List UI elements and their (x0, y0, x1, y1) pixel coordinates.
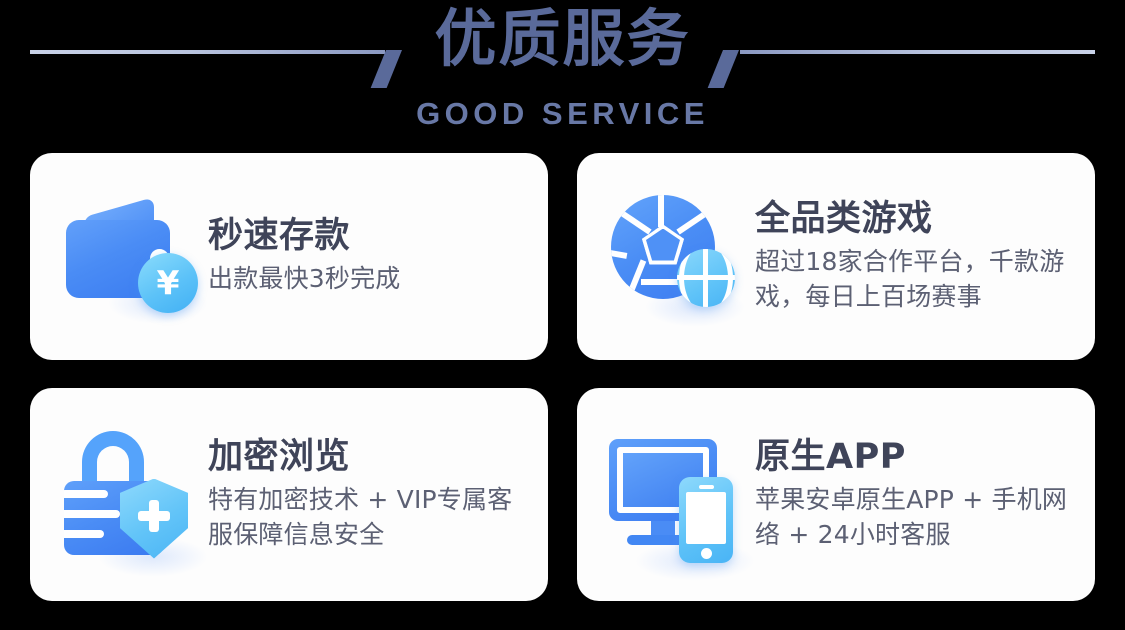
feature-card-grid: ¥ 秒速存款 出款最快3秒完成 (30, 153, 1095, 601)
smartphone-icon (679, 477, 733, 563)
card-title: 秒速存款 (208, 216, 534, 256)
feature-card-native-app[interactable]: 原生APP 苹果安卓原生APP + 手机网络 + 24小时客服 (577, 388, 1095, 601)
card-description: 苹果安卓原生APP + 手机网络 + 24小时客服 (755, 483, 1081, 552)
card-description: 超过18家合作平台，千款游戏，每日上百场赛事 (755, 245, 1081, 314)
wallet-icon: ¥ (58, 187, 208, 327)
feature-card-games[interactable]: 全品类游戏 超过18家合作平台，千款游戏，每日上百场赛事 (577, 153, 1095, 360)
card-text-block: 加密浏览 特有加密技术 + VIP专属客服保障信息安全 (208, 437, 548, 552)
padlock-shield-icon (58, 425, 208, 565)
card-title: 原生APP (755, 437, 1081, 477)
yuan-coin-icon: ¥ (138, 253, 198, 313)
header-rule-right (740, 50, 1095, 54)
card-description: 出款最快3秒完成 (208, 262, 534, 297)
basketball-icon (677, 249, 735, 307)
soccer-ball-icon (605, 187, 755, 327)
cross-icon (138, 500, 170, 532)
card-text-block: 原生APP 苹果安卓原生APP + 手机网络 + 24小时客服 (755, 437, 1095, 552)
phone-speaker (699, 485, 714, 489)
monitor-phone-icon (605, 425, 755, 565)
feature-card-encryption[interactable]: 加密浏览 特有加密技术 + VIP专属客服保障信息安全 (30, 388, 548, 601)
card-text-block: 全品类游戏 超过18家合作平台，千款游戏，每日上百场赛事 (755, 199, 1095, 314)
feature-card-deposit[interactable]: ¥ 秒速存款 出款最快3秒完成 (30, 153, 548, 360)
card-title: 全品类游戏 (755, 199, 1081, 239)
page-subtitle: GOOD SERVICE (0, 96, 1125, 132)
phone-home-button (701, 548, 712, 559)
card-description: 特有加密技术 + VIP专属客服保障信息安全 (208, 483, 534, 552)
phone-screen (686, 492, 726, 544)
card-title: 加密浏览 (208, 437, 534, 477)
card-text-block: 秒速存款 出款最快3秒完成 (208, 216, 548, 297)
page-title: 优质服务 (0, 8, 1125, 70)
page-header: 优质服务 GOOD SERVICE (0, 0, 1125, 150)
